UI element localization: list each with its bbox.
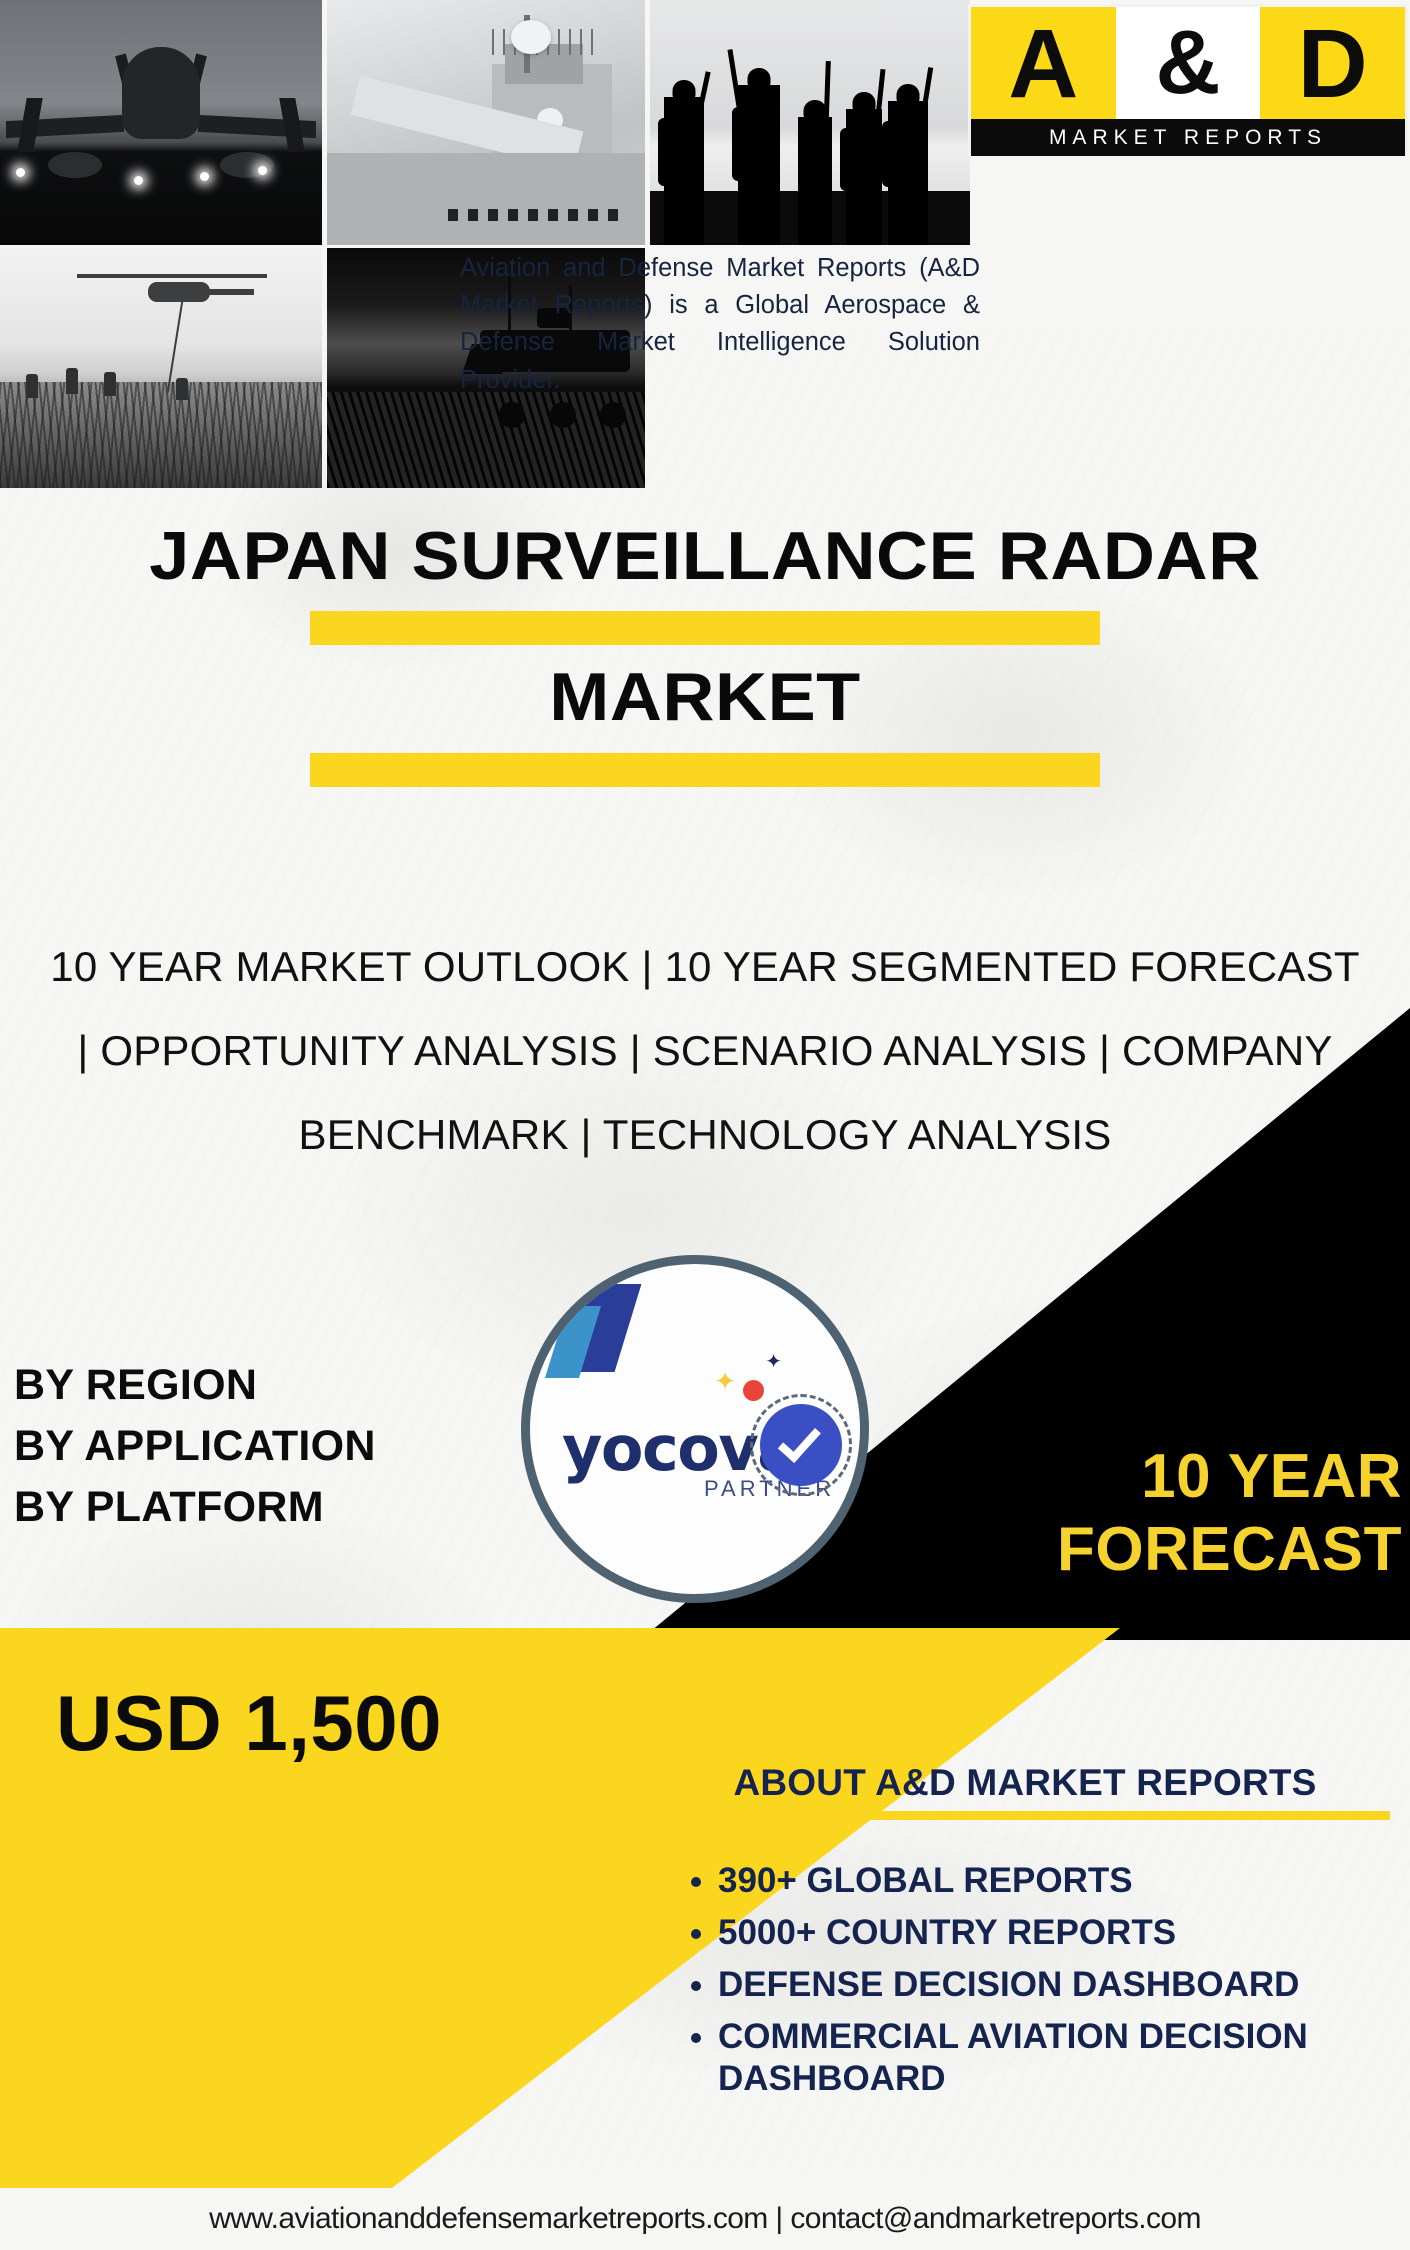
title-divider-top — [310, 611, 1100, 645]
sparkle-yellow-icon: ✦ — [714, 1368, 736, 1394]
title-divider-bottom — [310, 753, 1100, 787]
sparkle-navy-icon: ✦ — [765, 1352, 782, 1372]
report-title-line-1: JAPAN SURVEILLANCE RADAR — [0, 520, 1410, 593]
about-section: ABOUT A&D MARKET REPORTS 390+ GLOBAL REP… — [660, 1762, 1390, 2110]
segmentation-list: BY REGION BY APPLICATION BY PLATFORM — [14, 1355, 376, 1538]
segmentation-item-application: BY APPLICATION — [14, 1416, 376, 1477]
segmentation-item-region: BY REGION — [14, 1355, 376, 1416]
price-value: USD 1,500 — [56, 1678, 442, 1769]
fighter-jet-photo — [0, 0, 322, 245]
report-title-line-2: MARKET — [0, 661, 1410, 734]
about-bullet-list: 390+ GLOBAL REPORTS 5000+ COUNTRY REPORT… — [718, 1860, 1390, 2100]
logo-subtitle-bar: MARKET REPORTS — [971, 119, 1405, 156]
dot-red-icon — [743, 1380, 764, 1401]
ad-market-reports-logo: A & D MARKET REPORTS — [968, 4, 1408, 156]
forecast-callout: 10 YEAR FORECAST — [790, 1440, 1410, 1586]
list-item: 390+ GLOBAL REPORTS — [718, 1860, 1390, 1902]
list-item: COMMERCIAL AVIATION DECISION DASHBOARD — [718, 2016, 1390, 2100]
logo-letter-d: D — [1260, 7, 1405, 119]
list-item: DEFENSE DECISION DASHBOARD — [718, 1964, 1390, 2006]
forecast-line-2: FORECAST — [790, 1513, 1402, 1586]
helicopter-fast-rope-photo — [0, 248, 322, 488]
report-title-block: JAPAN SURVEILLANCE RADAR MARKET — [0, 520, 1410, 787]
company-intro-text: Aviation and Defense Market Reports (A&D… — [460, 250, 980, 399]
logo-subtitle-text: MARKET REPORTS — [1049, 126, 1327, 150]
poster-root: A & D MARKET REPORTS Aviation and Defens… — [0, 0, 1410, 2250]
report-scope-subtitle: 10 YEAR MARKET OUTLOOK | 10 YEAR SEGMENT… — [40, 925, 1370, 1177]
yocova-partner-badge: ✦ ✦ yocova PARTNER — [521, 1255, 869, 1603]
segmentation-item-platform: BY PLATFORM — [14, 1477, 376, 1538]
about-heading: ABOUT A&D MARKET REPORTS — [660, 1762, 1390, 1804]
logo-letter-a: A — [971, 7, 1116, 119]
soldiers-silhouette-photo — [650, 0, 970, 245]
footer-contact: www.aviationanddefensemarketreports.com … — [0, 2188, 1410, 2250]
list-item: 5000+ COUNTRY REPORTS — [718, 1912, 1390, 1954]
footer-contact-text[interactable]: www.aviationanddefensemarketreports.com … — [209, 2202, 1201, 2236]
aircraft-carrier-photo — [327, 0, 645, 245]
verified-check-icon — [760, 1404, 842, 1486]
logo-letter-ampersand: & — [1116, 7, 1261, 119]
forecast-line-1: 10 YEAR — [790, 1440, 1402, 1513]
about-heading-underline — [660, 1811, 1390, 1820]
